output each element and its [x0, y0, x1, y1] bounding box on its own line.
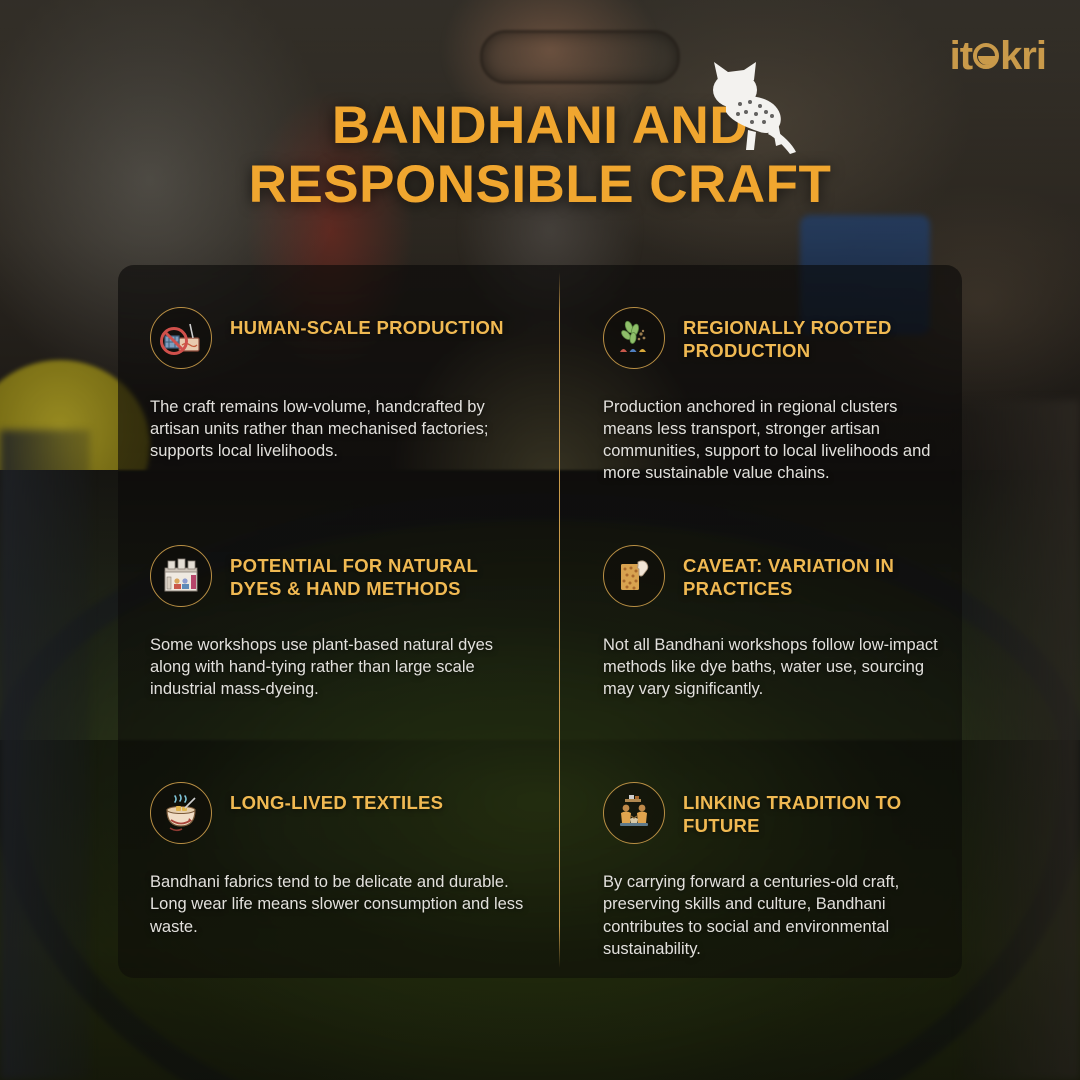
card-header: REGIONALLY ROOTED PRODUCTION	[603, 307, 942, 369]
card-title: LINKING TRADITION TO FUTURE	[683, 782, 942, 837]
poster-title-block: BANDHANI AND RESPONSIBLE CRAFT	[0, 96, 1080, 215]
card-regionally-rooted-production: REGIONALLY ROOTED PRODUCTION Production …	[559, 265, 962, 503]
logo-basket-o-icon	[973, 43, 999, 69]
no-factory-icon	[150, 307, 212, 369]
card-long-lived-textiles: LONG-LIVED TEXTILES Bandhani fabrics ten…	[118, 740, 559, 978]
two-artisans-icon	[603, 782, 665, 844]
card-body: The craft remains low-volume, handcrafte…	[150, 396, 529, 462]
card-header: LINKING TRADITION TO FUTURE	[603, 782, 942, 844]
infographic-poster: itkri BANDHANI AND RESPONS	[0, 0, 1080, 1080]
card-body: Bandhani fabrics tend to be delicate and…	[150, 871, 529, 937]
hand-holding-fabric-swatch-icon	[603, 545, 665, 607]
card-body: Some workshops use plant-based natural d…	[150, 634, 529, 700]
poster-title: BANDHANI AND RESPONSIBLE CRAFT	[0, 96, 1080, 215]
logo-text-kri: kri	[1000, 36, 1046, 76]
cat-mascot-icon	[688, 52, 798, 157]
card-title: POTENTIAL FOR NATURAL DYES & HAND METHOD…	[230, 545, 529, 600]
card-title: CAVEAT: VARIATION IN PRACTICES	[683, 545, 942, 600]
card-title: REGIONALLY ROOTED PRODUCTION	[683, 307, 942, 362]
title-line-1: BANDHANI AND	[332, 96, 748, 155]
cards-grid: HUMAN-SCALE PRODUCTION The craft remains…	[118, 265, 962, 978]
card-title: LONG-LIVED TEXTILES	[230, 782, 443, 814]
craft-workshop-building-icon	[150, 545, 212, 607]
card-body: Production anchored in regional clusters…	[603, 396, 942, 484]
card-body: Not all Bandhani workshops follow low-im…	[603, 634, 942, 700]
brand-logo-itokri[interactable]: itkri	[950, 36, 1046, 76]
steaming-dye-pot-icon	[150, 782, 212, 844]
card-title: HUMAN-SCALE PRODUCTION	[230, 307, 504, 339]
card-body: By carrying forward a centuries-old craf…	[603, 871, 942, 959]
card-human-scale-production: HUMAN-SCALE PRODUCTION The craft remains…	[118, 265, 559, 503]
card-natural-dyes-hand-methods: POTENTIAL FOR NATURAL DYES & HAND METHOD…	[118, 503, 559, 741]
logo-text-it: it	[950, 36, 972, 76]
title-line-2: RESPONSIBLE CRAFT	[0, 155, 1080, 214]
card-header: POTENTIAL FOR NATURAL DYES & HAND METHOD…	[150, 545, 529, 607]
natural-dye-leaves-icon	[603, 307, 665, 369]
card-linking-tradition-to-future: LINKING TRADITION TO FUTURE By carrying …	[559, 740, 962, 978]
card-header: HUMAN-SCALE PRODUCTION	[150, 307, 529, 369]
card-caveat-variation-in-practices: CAVEAT: VARIATION IN PRACTICES Not all B…	[559, 503, 962, 741]
card-header: CAVEAT: VARIATION IN PRACTICES	[603, 545, 942, 607]
card-header: LONG-LIVED TEXTILES	[150, 782, 529, 844]
